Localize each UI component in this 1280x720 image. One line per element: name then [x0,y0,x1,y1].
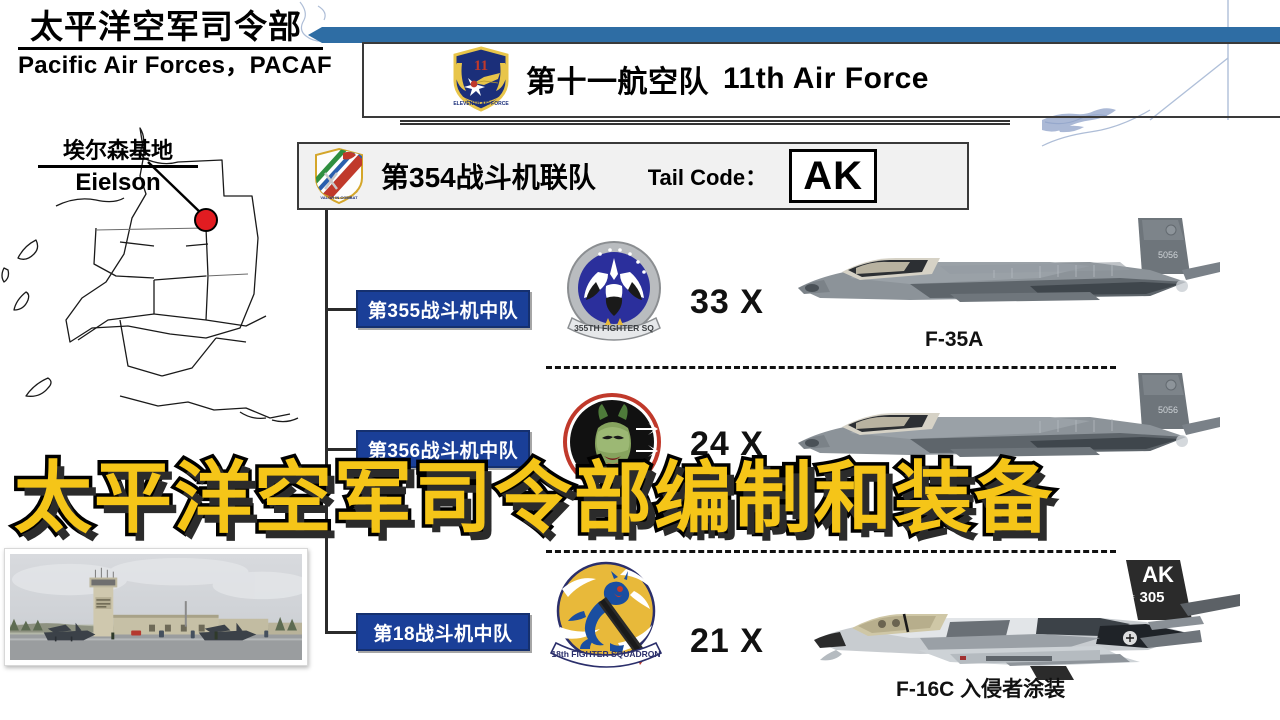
tail-code-value: AK [803,156,863,196]
eielson-label-cn: 埃尔森基地 [38,138,198,164]
patch-scroll-355: 355TH FIGHTER SQ [574,323,654,333]
svg-text:11: 11 [474,58,488,74]
pacaf-title-cn: 太平洋空军司令部 [18,8,323,46]
emblem-scroll-text: ELEVENTH AIR FORCE [453,101,509,107]
numbered-af-header: 11 ELEVENTH AIR FORCE 第十一航空队 11th Air Fo… [450,45,929,113]
eielson-map-marker [195,209,217,231]
f35-tail-number-1: 5056 [1158,250,1178,260]
overlay-title: 太平洋空军司令部编制和装备 [14,452,1270,544]
squadron-label-18: 第18战斗机中队 [373,619,512,646]
wing-name-cn: 第354战斗机联队 [381,156,596,196]
tail-code-box: AK [789,149,877,203]
org-chart-trunk [325,210,328,634]
header-ribbon [322,27,1280,43]
numbered-af-underline [400,120,1010,125]
numbered-af-name-cn: 第十一航空队 [526,57,709,101]
org-chart-branch-1 [325,308,358,311]
patch-scroll-18: 18th FIGHTER SQUADRON [551,649,660,659]
eleventh-air-force-emblem-icon: 11 ELEVENTH AIR FORCE [450,45,512,113]
wing-emblem-motto: VALOR IN COMBAT [320,195,358,200]
aircraft-count-355: 33 X [690,283,764,322]
squadron-box-18[interactable]: 第18战斗机中队 [356,613,530,651]
org-chart-branch-3 [325,631,358,634]
aircraft-label-355: F-35A [925,328,983,352]
f16-tail-number: 305 [1139,589,1164,606]
infographic-canvas: 太平洋空军司令部 Pacific Air Forces，PACAF 11 ELE… [0,0,1280,720]
org-chart-branch-2 [325,448,358,451]
pacaf-title-divider [18,47,323,50]
f35-tail-number-2: 5056 [1158,405,1178,415]
f35a-aircraft-image-1: 5056 [790,200,1220,330]
18th-fighter-squadron-patch-icon: 18th FIGHTER SQUADRON [548,555,668,675]
eielson-label: 埃尔森基地 Eielson [38,138,198,197]
354th-fighter-wing-emblem-icon: VALOR IN COMBAT [313,147,365,205]
alaska-map: 埃尔森基地 Eielson [0,120,320,450]
numbered-af-name-en: 11th Air Force [723,62,929,96]
squadron-box-355[interactable]: 第355战斗机中队 [356,290,530,328]
aircraft-count-18: 21 X [690,622,764,661]
eielson-label-divider [38,165,198,168]
tail-code-label: Tail Code： [648,160,767,192]
f16-tail-code: AK [1142,562,1174,587]
eielson-label-en: Eielson [38,169,198,197]
aircraft-label-18: F-16C 入侵者涂装 [896,673,1065,703]
overlay-title-text: 太平洋空军司令部编制和装备 [14,454,1054,542]
squadron-label-355: 第355战斗机中队 [368,296,518,323]
355th-fighter-squadron-patch-icon: 355TH FIGHTER SQ [558,236,670,348]
pacaf-title-block: 太平洋空军司令部 Pacific Air Forces，PACAF [18,8,323,80]
pacaf-title-en: Pacific Air Forces，PACAF [18,52,323,80]
eielson-photo-graphic [10,554,302,660]
eielson-base-photo [4,548,308,666]
svg-text:AF: AF [1127,596,1135,602]
f16c-aggressor-aircraft-image: AK 305 AF [800,550,1240,690]
